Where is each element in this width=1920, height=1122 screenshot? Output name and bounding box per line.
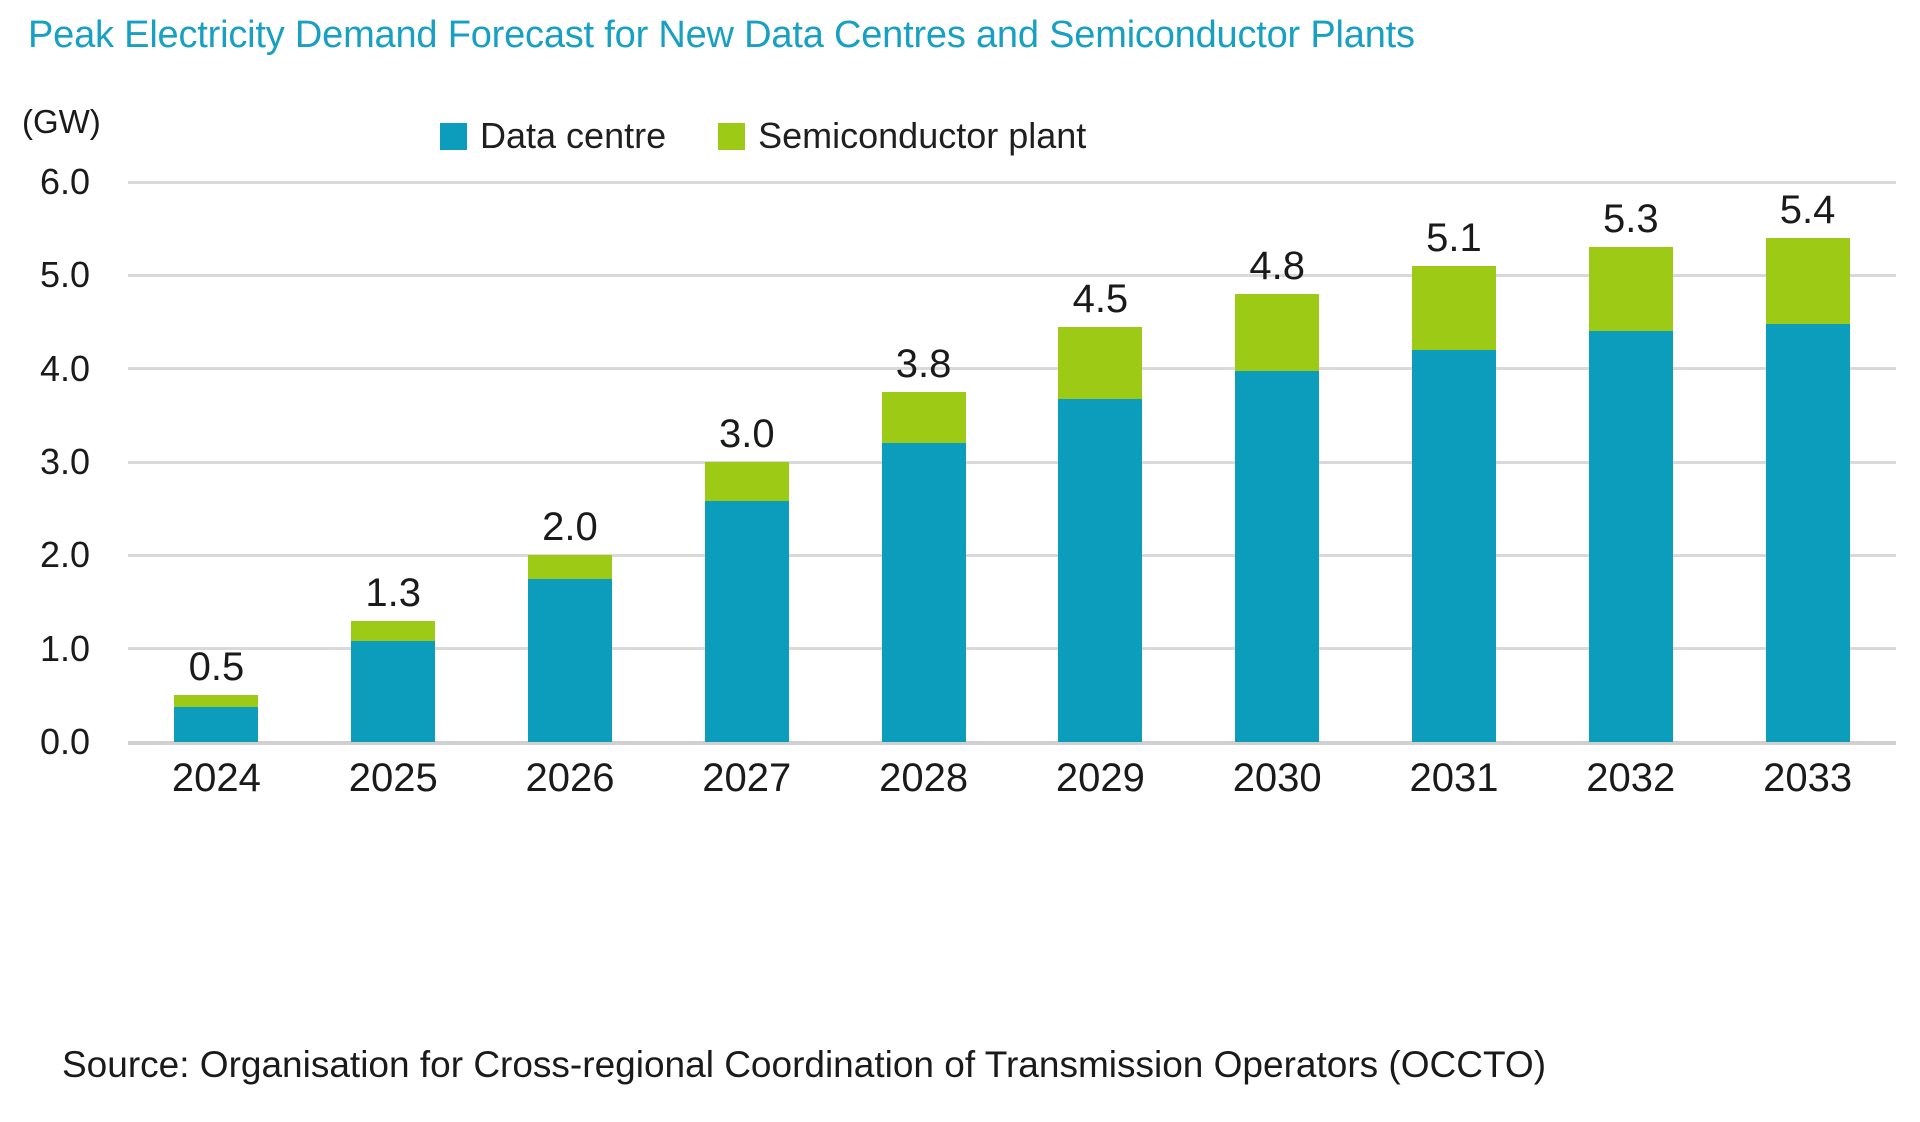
bar-stack[interactable]: 2.0 — [528, 555, 612, 742]
bar-stack[interactable]: 5.4 — [1766, 238, 1850, 742]
x-axis-tick-label: 2033 — [1719, 756, 1896, 801]
chart-legend: Data centreSemiconductor plant — [440, 118, 1086, 154]
bar-group: 5.4 — [1719, 182, 1896, 742]
bar-segment-semiconductor-plant[interactable] — [1058, 327, 1142, 399]
bar-segment-semiconductor-plant[interactable] — [351, 621, 435, 642]
chart-title: Peak Electricity Demand Forecast for New… — [28, 14, 1415, 57]
bar-stack[interactable]: 3.8 — [882, 392, 966, 742]
y-axis-tick-label: 0.0 — [0, 721, 90, 763]
y-axis-tick-label: 3.0 — [0, 441, 90, 483]
bar-group: 4.5 — [1012, 182, 1189, 742]
bar-group: 1.3 — [305, 182, 482, 742]
bar-segment-data-centre[interactable] — [1589, 331, 1673, 742]
bar-group: 3.8 — [835, 182, 1012, 742]
bar-segment-data-centre[interactable] — [1235, 371, 1319, 742]
x-axis-tick-label: 2026 — [482, 756, 659, 801]
y-axis-unit-label: (GW) — [22, 103, 101, 141]
legend-item-label: Data centre — [480, 118, 666, 154]
bar-total-label: 5.3 — [1603, 199, 1659, 239]
x-axis-tick-label: 2028 — [835, 756, 1012, 801]
bar-segment-data-centre[interactable] — [174, 707, 258, 742]
y-axis-tick-label: 5.0 — [0, 254, 90, 296]
bar-segment-semiconductor-plant[interactable] — [1235, 294, 1319, 371]
plot-area: 6.05.04.03.02.01.00.0 0.51.32.03.03.84.5… — [128, 182, 1896, 742]
bar-segment-data-centre[interactable] — [1058, 399, 1142, 742]
bar-segment-data-centre[interactable] — [1412, 350, 1496, 742]
bar-total-label: 4.8 — [1249, 246, 1305, 286]
bar-total-label: 0.5 — [189, 647, 245, 687]
x-axis-tick-label: 2030 — [1189, 756, 1366, 801]
bar-segment-data-centre[interactable] — [1766, 324, 1850, 742]
x-axis-tick-label: 2031 — [1366, 756, 1543, 801]
x-axis-tick-label: 2025 — [305, 756, 482, 801]
x-axis-tick-label: 2032 — [1542, 756, 1719, 801]
bar-stack[interactable]: 3.0 — [705, 462, 789, 742]
bar-segment-semiconductor-plant[interactable] — [1412, 266, 1496, 350]
x-axis-tick-label: 2027 — [658, 756, 835, 801]
bar-segment-data-centre[interactable] — [705, 501, 789, 742]
bar-total-label: 1.3 — [365, 573, 421, 613]
bar-group: 0.5 — [128, 182, 305, 742]
legend-swatch-data-centre — [440, 123, 467, 150]
bar-stack[interactable]: 5.1 — [1412, 266, 1496, 742]
bar-total-label: 2.0 — [542, 507, 598, 547]
y-axis-tick-label: 2.0 — [0, 534, 90, 576]
bar-segment-semiconductor-plant[interactable] — [705, 462, 789, 501]
bar-group: 5.1 — [1366, 182, 1543, 742]
bar-group: 4.8 — [1189, 182, 1366, 742]
x-axis-tick-label: 2024 — [128, 756, 305, 801]
bar-segment-semiconductor-plant[interactable] — [528, 555, 612, 578]
bar-segment-semiconductor-plant[interactable] — [174, 695, 258, 706]
y-axis-tick-label: 6.0 — [0, 161, 90, 203]
bar-segment-data-centre[interactable] — [528, 579, 612, 742]
bar-segment-semiconductor-plant[interactable] — [1766, 238, 1850, 324]
bar-series-group: 0.51.32.03.03.84.54.85.15.35.4 — [128, 182, 1896, 742]
legend-item[interactable]: Data centre — [440, 118, 666, 154]
x-axis-labels: 2024202520262027202820292030203120322033 — [128, 756, 1896, 801]
y-axis-tick-label: 1.0 — [0, 628, 90, 670]
bar-total-label: 5.4 — [1780, 190, 1836, 230]
bar-total-label: 4.5 — [1073, 279, 1129, 319]
bar-group: 5.3 — [1542, 182, 1719, 742]
bar-segment-data-centre[interactable] — [882, 443, 966, 742]
bar-segment-data-centre[interactable] — [351, 641, 435, 742]
bar-total-label: 3.0 — [719, 414, 775, 454]
bar-total-label: 5.1 — [1426, 218, 1482, 258]
bar-stack[interactable]: 4.5 — [1058, 327, 1142, 742]
bar-stack[interactable]: 4.8 — [1235, 294, 1319, 742]
bar-segment-semiconductor-plant[interactable] — [1589, 247, 1673, 331]
bar-group: 3.0 — [658, 182, 835, 742]
y-axis-tick-label: 4.0 — [0, 348, 90, 390]
bar-total-label: 3.8 — [896, 344, 952, 384]
legend-item[interactable]: Semiconductor plant — [718, 118, 1086, 154]
x-axis-tick-label: 2029 — [1012, 756, 1189, 801]
legend-swatch-semiconductor-plant — [718, 123, 745, 150]
chart-container: Peak Electricity Demand Forecast for New… — [0, 0, 1920, 1122]
bar-stack[interactable]: 1.3 — [351, 621, 435, 742]
bar-group: 2.0 — [482, 182, 659, 742]
bar-stack[interactable]: 5.3 — [1589, 247, 1673, 742]
bar-stack[interactable]: 0.5 — [174, 695, 258, 742]
legend-item-label: Semiconductor plant — [758, 118, 1086, 154]
bar-segment-semiconductor-plant[interactable] — [882, 392, 966, 443]
source-note: Source: Organisation for Cross-regional … — [62, 1044, 1546, 1086]
